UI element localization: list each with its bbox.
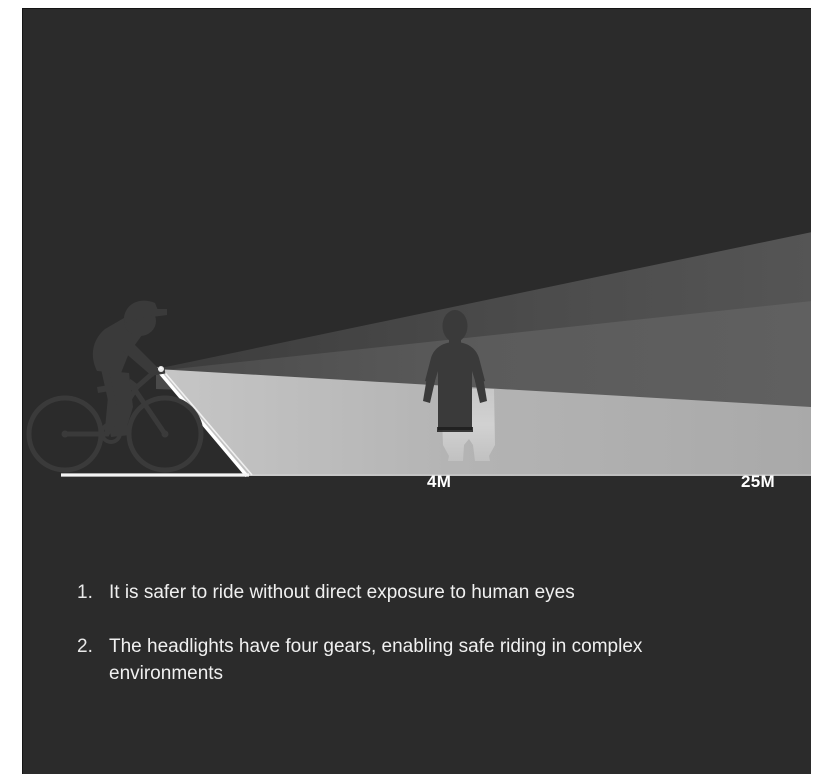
feature-number: 2. [77, 633, 109, 661]
feature-text: It is safer to ride without direct expos… [109, 579, 575, 607]
product-infographic: MULTI-FUNCTION BICYCLE LAMP [0, 0, 816, 782]
list-item: 1. It is safer to ride without direct ex… [77, 579, 777, 607]
list-item: 2. The headlights have four gears, enabl… [77, 633, 777, 688]
distance-label-far: 25M [741, 472, 775, 492]
dark-panel: MULTI-FUNCTION BICYCLE LAMP [22, 8, 811, 774]
distance-label-near: 4M [427, 472, 451, 492]
feature-number: 1. [77, 579, 109, 607]
illustration-stage [23, 9, 811, 509]
feature-text: The headlights have four gears, enabling… [109, 633, 749, 688]
beam-diagram [23, 9, 811, 509]
feature-list: 1. It is safer to ride without direct ex… [77, 579, 777, 714]
